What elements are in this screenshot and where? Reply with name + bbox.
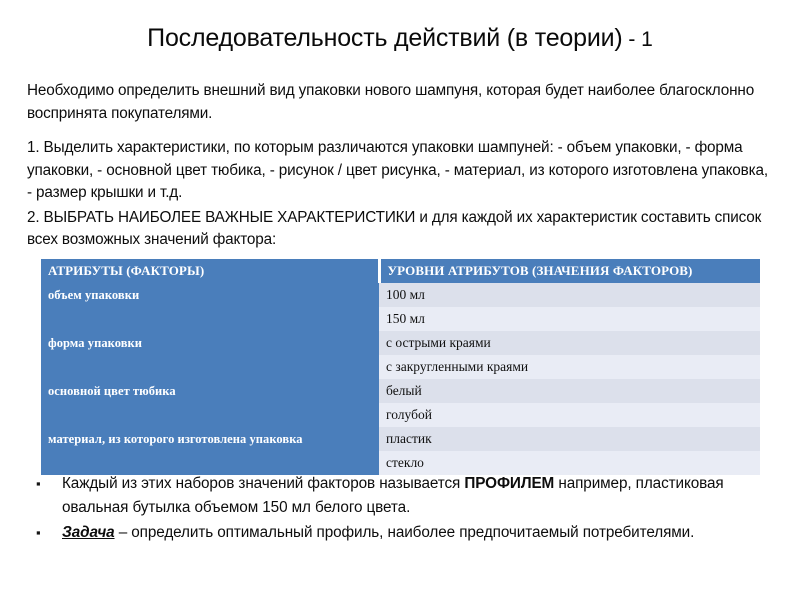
table-row: 150 мл — [41, 307, 760, 331]
attributes-table: АТРИБУТЫ (ФАКТОРЫ) УРОВНИ АТРИБУТОВ (ЗНА… — [41, 259, 760, 475]
table-header-attributes: АТРИБУТЫ (ФАКТОРЫ) — [41, 259, 379, 283]
bullet-part-emphasis: ПРОФИЛЕМ — [464, 475, 554, 492]
bullet-text-profile: Каждый из этих наборов значений факторов… — [62, 472, 773, 520]
bullet-square-icon: ▪ — [33, 472, 62, 496]
table-cell-level: с закругленными краями — [379, 355, 760, 379]
table-cell-level: 150 мл — [379, 307, 760, 331]
bullet-part-lead: Каждый из этих наборов значений факторов… — [62, 475, 464, 492]
bullet-part-tail: – определить оптимальный профиль, наибол… — [115, 524, 695, 541]
bullet-square-icon: ▪ — [33, 521, 62, 545]
slide-title: Последовательность действий (в теории) -… — [0, 24, 800, 53]
table-body: объем упаковки 100 мл 150 мл форма упако… — [41, 283, 760, 475]
table-cell-level: голубой — [379, 403, 760, 427]
page-title-suffix: - 1 — [622, 28, 652, 51]
table-cell-attribute — [41, 307, 379, 331]
table-row: материал, из которого изготовлена упаков… — [41, 427, 760, 451]
table-cell-level: пластик — [379, 427, 760, 451]
list-item: ▪ Задача – определить оптимальный профил… — [33, 521, 773, 545]
table-cell-attribute — [41, 403, 379, 427]
table-row: с закругленными краями — [41, 355, 760, 379]
table-cell-level: 100 мл — [379, 283, 760, 307]
table-row: объем упаковки 100 мл — [41, 283, 760, 307]
paragraph-step-1: 1. Выделить характеристики, по которым р… — [27, 137, 771, 205]
table-cell-level: белый — [379, 379, 760, 403]
table-header: АТРИБУТЫ (ФАКТОРЫ) УРОВНИ АТРИБУТОВ (ЗНА… — [41, 259, 760, 283]
bullet-part-emphasis: Задача — [62, 524, 115, 541]
table-row: основной цвет тюбика белый — [41, 379, 760, 403]
table-cell-attribute: материал, из которого изготовлена упаков… — [41, 427, 379, 451]
table-cell-attribute — [41, 355, 379, 379]
table-header-levels: УРОВНИ АТРИБУТОВ (ЗНАЧЕНИЯ ФАКТОРОВ) — [379, 259, 760, 283]
paragraph-step-2: 2. ВЫБРАТЬ НАИБОЛЕЕ ВАЖНЫЕ ХАРАКТЕРИСТИК… — [27, 207, 771, 252]
paragraph-intro: Необходимо определить внешний вид упаков… — [27, 80, 771, 125]
body-text-block: Необходимо определить внешний вид упаков… — [27, 80, 771, 252]
bullet-text-task: Задача – определить оптимальный профиль,… — [62, 521, 773, 545]
table-header-row: АТРИБУТЫ (ФАКТОРЫ) УРОВНИ АТРИБУТОВ (ЗНА… — [41, 259, 760, 283]
table-cell-attribute: основной цвет тюбика — [41, 379, 379, 403]
table-row: голубой — [41, 403, 760, 427]
table-cell-attribute: объем упаковки — [41, 283, 379, 307]
slide-canvas: Последовательность действий (в теории) -… — [0, 0, 800, 600]
table-cell-attribute: форма упаковки — [41, 331, 379, 355]
page-title-main: Последовательность действий (в теории) — [147, 24, 622, 52]
list-item: ▪ Каждый из этих наборов значений фактор… — [33, 472, 773, 520]
bullet-list: ▪ Каждый из этих наборов значений фактор… — [33, 472, 773, 546]
table-row: форма упаковки с острыми краями — [41, 331, 760, 355]
table-cell-level: с острыми краями — [379, 331, 760, 355]
